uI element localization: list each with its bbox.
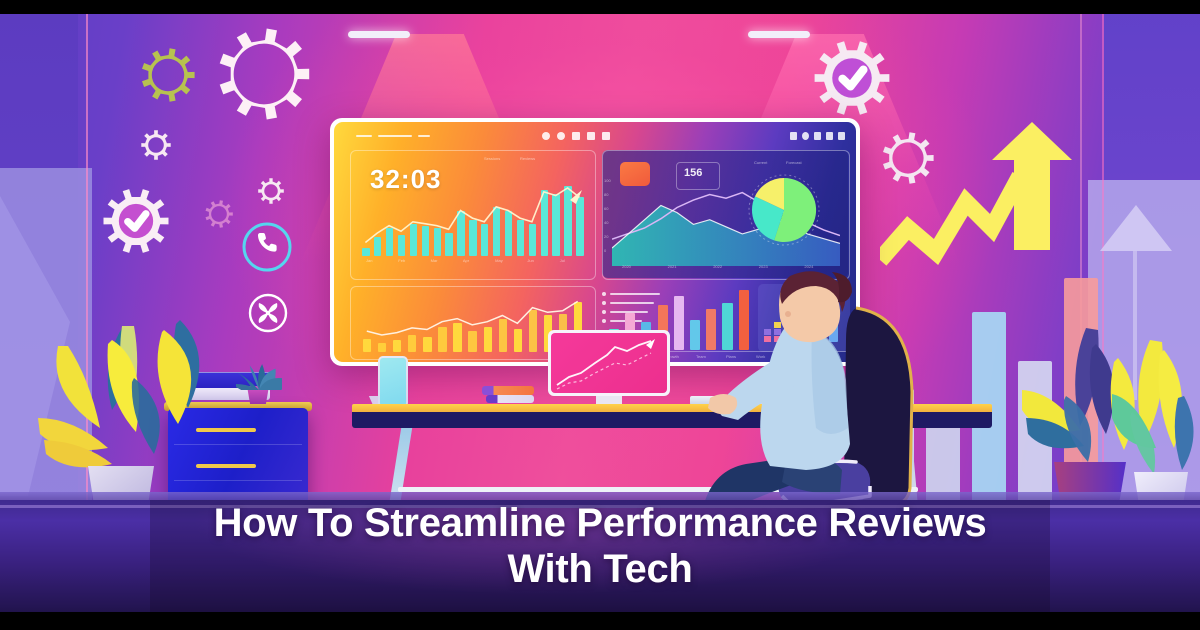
- desk-book-purple: [486, 395, 534, 403]
- spotlight-fixture-left: [348, 31, 410, 38]
- gear-small-icon-upper: [141, 130, 171, 160]
- pie-chart: [748, 174, 820, 246]
- gear-outline-icon: [205, 200, 233, 228]
- gear-check-icon-left: [103, 188, 169, 254]
- page-title: How To Streamline Performance Reviews Wi…: [100, 500, 1100, 592]
- small-succulent: [236, 356, 282, 390]
- trend-line-chart: [551, 333, 667, 393]
- potted-plant-right-front: [1112, 330, 1200, 512]
- timer-x-label: Jan: [366, 258, 372, 263]
- letterbox-top: [0, 0, 1200, 14]
- potted-plant-left: [38, 268, 218, 518]
- analytics-y-label: 20: [604, 234, 608, 239]
- illustration-canvas: 32:03 Sessions Reviews JanFebMarAprMayJu…: [0, 0, 1200, 630]
- titlebar-mark-1: [356, 135, 372, 137]
- secondary-display[interactable]: [548, 330, 670, 396]
- settings-flower-icon: [247, 292, 289, 334]
- edit-icon[interactable]: [572, 132, 580, 140]
- secondary-display-screen: [551, 333, 667, 393]
- timer-x-label: Jul: [560, 258, 565, 263]
- analytics-pie-chart: [748, 174, 820, 246]
- timer-trend-line: [360, 182, 586, 266]
- letterbox-bottom: [0, 612, 1200, 630]
- analytics-y-label: 0: [604, 248, 606, 253]
- analytics-x-label: 2021: [668, 264, 677, 269]
- titlebar-icons-center[interactable]: [542, 132, 632, 142]
- desk-book-orange: [482, 386, 534, 395]
- gear-check-icon-right: [814, 40, 890, 116]
- analytics-y-label: 40: [604, 220, 608, 225]
- titlebar-icons-right[interactable]: [790, 132, 846, 142]
- smartphone[interactable]: [378, 356, 408, 408]
- bell-icon[interactable]: [826, 132, 833, 140]
- record-icon[interactable]: [542, 132, 550, 140]
- timer-x-label: May: [495, 258, 503, 263]
- chart-icon[interactable]: [790, 132, 797, 140]
- potted-plant-right-front: [1112, 330, 1200, 512]
- title-line-2: With Tech: [100, 546, 1100, 592]
- gear-icon[interactable]: [802, 132, 809, 140]
- comparison-bar: [674, 296, 684, 350]
- grid-icon[interactable]: [587, 132, 595, 140]
- title-line-1: How To Streamline Performance Reviews: [100, 500, 1100, 546]
- user-icon[interactable]: [602, 132, 610, 140]
- analytics-y-label: 80: [604, 192, 608, 197]
- analytics-legend-2: Forecast: [786, 160, 802, 165]
- timer-legend-1: Sessions: [484, 156, 500, 161]
- timer-x-label: Jun: [527, 258, 533, 263]
- analytics-x-label: 2020: [622, 264, 631, 269]
- gear-small-icon-right: [258, 178, 284, 204]
- flag-icon[interactable]: [814, 132, 821, 140]
- gear-icon[interactable]: [557, 132, 565, 140]
- background-triangle-icon: [1100, 205, 1172, 251]
- potted-plant-left: [38, 268, 218, 518]
- timer-x-label: Apr: [463, 258, 469, 263]
- timer-x-label: Feb: [398, 258, 405, 263]
- gear-icon-right-lower: [882, 132, 934, 184]
- small-succulent: [236, 356, 282, 390]
- analytics-y-label: 100: [604, 178, 611, 183]
- timer-bar-chart: JanFebMarAprMayJunJul: [360, 182, 586, 266]
- analytics-legend-1: Current: [754, 160, 767, 165]
- phone-icon: [240, 220, 294, 274]
- pin-icon[interactable]: [838, 132, 845, 140]
- timer-x-label: Mar: [431, 258, 438, 263]
- titlebar-mark-3: [418, 135, 430, 137]
- titlebar-mark-2: [378, 135, 412, 137]
- analytics-y-label: 60: [604, 206, 608, 211]
- gear-icon-large-white: [218, 28, 310, 120]
- gear-icon-olive: [141, 48, 195, 102]
- phone-screen: [380, 358, 406, 406]
- timer-legend-2: Reviews: [520, 156, 535, 161]
